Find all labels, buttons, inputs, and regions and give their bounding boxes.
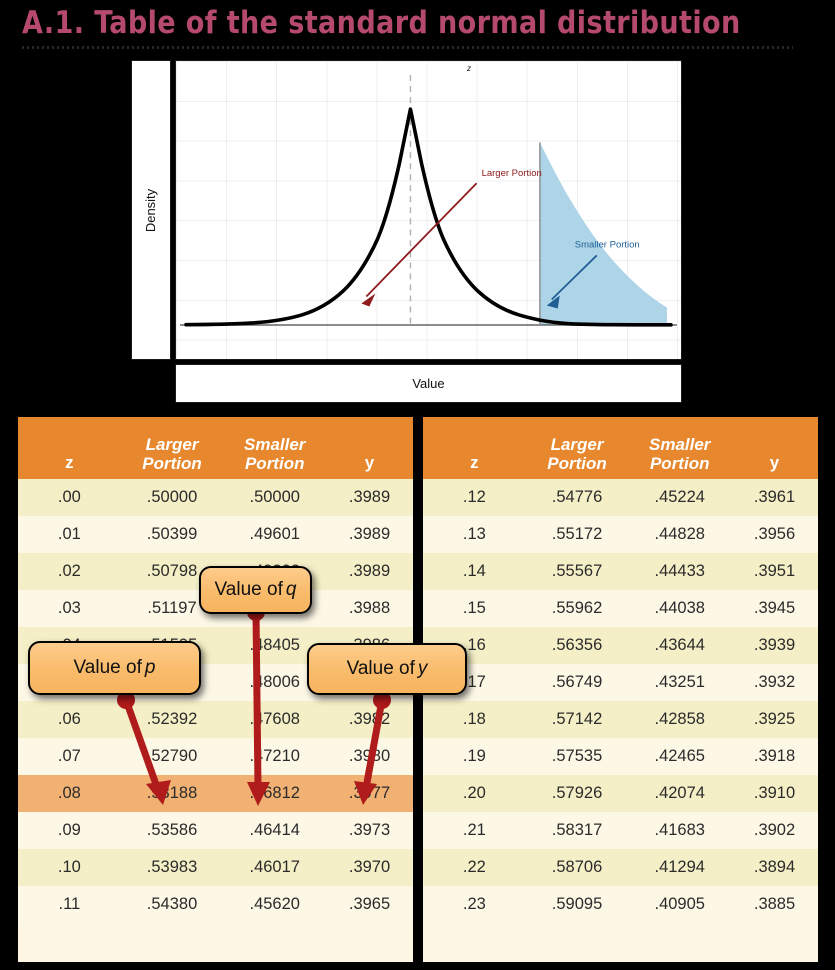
cell-q: .44433 <box>628 553 731 590</box>
cell-q: .42074 <box>628 775 731 812</box>
cell-y: .3980 <box>326 738 413 775</box>
cell-y: .3989 <box>326 479 413 516</box>
table-row: .01.50399.49601.3989 <box>18 516 413 553</box>
table-row: .00.50000.50000.3989 <box>18 479 413 516</box>
callout-q-label: Value of <box>215 579 283 601</box>
cell-y: .3885 <box>731 886 818 923</box>
table-row: .15.55962.44038.3945 <box>423 590 818 627</box>
cell-z: .20 <box>423 775 526 812</box>
smaller-portion-label: Smaller Portion <box>575 239 640 250</box>
cell-y: .3970 <box>326 849 413 886</box>
cell-z: .01 <box>18 516 121 553</box>
cell-q: .41683 <box>628 812 731 849</box>
plot-svg: Larger Portion Smaller Portion <box>176 61 681 359</box>
cell-z: .03 <box>18 590 121 627</box>
table-row: .06.52392.47608.3982 <box>18 701 413 738</box>
cell-z: .12 <box>423 479 526 516</box>
cell-q: .45620 <box>223 886 326 923</box>
normal-distribution-chart: Density Larger Portion <box>131 60 682 403</box>
cell-q: .41294 <box>628 849 731 886</box>
cell-y: .3989 <box>326 553 413 590</box>
cell-p: .52790 <box>121 738 224 775</box>
cell-y: .3956 <box>731 516 818 553</box>
callout-y-label: Value of <box>347 658 415 680</box>
callout-value-of-y: Value of y <box>307 643 467 695</box>
left-table-header-row: z Larger Portion Smaller Portion y <box>18 417 413 479</box>
cell-q: .46017 <box>223 849 326 886</box>
cell-y: .3961 <box>731 479 818 516</box>
x-axis-panel: Value z <box>175 364 682 403</box>
cell-z: .08 <box>18 775 121 812</box>
larger-portion-arrow-line <box>366 183 476 296</box>
cell-y: .3925 <box>731 701 818 738</box>
header-y: y <box>326 417 413 479</box>
cell-z: .00 <box>18 479 121 516</box>
callout-y-symbol: y <box>415 658 428 680</box>
larger-portion-label: Larger Portion <box>482 168 542 179</box>
cell-q: .46812 <box>223 775 326 812</box>
cell-z: .23 <box>423 886 526 923</box>
page-title-block: A.1. Table of the standard normal distri… <box>22 4 812 42</box>
left-table-body: .00.50000.50000.3989.01.50399.49601.3989… <box>18 479 413 923</box>
cell-y: .3910 <box>731 775 818 812</box>
table-row: .18.57142.42858.3925 <box>423 701 818 738</box>
table-row: .09.53586.46414.3973 <box>18 812 413 849</box>
cell-y: .3918 <box>731 738 818 775</box>
callout-p-symbol: p <box>142 657 156 679</box>
cell-z: .22 <box>423 849 526 886</box>
cell-p: .58706 <box>526 849 629 886</box>
cell-q: .40905 <box>628 886 731 923</box>
y-axis-label: Density <box>144 188 159 231</box>
header-larger-portion: Larger Portion <box>526 417 629 479</box>
cell-p: .53188 <box>121 775 224 812</box>
cell-q: .43251 <box>628 664 731 701</box>
header-y: y <box>731 417 818 479</box>
cell-y: .3939 <box>731 627 818 664</box>
cell-z: .09 <box>18 812 121 849</box>
cell-z: .13 <box>423 516 526 553</box>
cell-q: .47210 <box>223 738 326 775</box>
x-axis-label: Value <box>412 376 444 391</box>
cell-z: .07 <box>18 738 121 775</box>
cell-y: .3982 <box>326 701 413 738</box>
cell-p: .52392 <box>121 701 224 738</box>
cell-p: .57926 <box>526 775 629 812</box>
cell-y: .3894 <box>731 849 818 886</box>
header-larger-portion: Larger Portion <box>121 417 224 479</box>
cell-p: .50399 <box>121 516 224 553</box>
table-row: .07.52790.47210.3980 <box>18 738 413 775</box>
cell-p: .56356 <box>526 627 629 664</box>
y-axis-panel: Density <box>131 60 171 360</box>
cell-y: .3965 <box>326 886 413 923</box>
cell-y: .3945 <box>731 590 818 627</box>
cell-q: .50000 <box>223 479 326 516</box>
header-smaller-portion: Smaller Portion <box>223 417 326 479</box>
z-tick-label: z <box>467 64 471 73</box>
cell-y: .3951 <box>731 553 818 590</box>
cell-y: .3977 <box>326 775 413 812</box>
cell-p: .56749 <box>526 664 629 701</box>
table-row: .14.55567.44433.3951 <box>423 553 818 590</box>
plot-area: Larger Portion Smaller Portion <box>175 60 682 360</box>
right-table-wrapper: z Larger Portion Smaller Portion y .12.5… <box>423 417 818 962</box>
header-z: z <box>18 417 121 479</box>
cell-p: .59095 <box>526 886 629 923</box>
table-row: .16.56356.43644.3939 <box>423 627 818 664</box>
cell-p: .53983 <box>121 849 224 886</box>
cell-p: .54776 <box>526 479 629 516</box>
cell-y: .3973 <box>326 812 413 849</box>
cell-q: .42858 <box>628 701 731 738</box>
right-table-body: .12.54776.45224.3961.13.55172.44828.3956… <box>423 479 818 923</box>
cell-q: .49601 <box>223 516 326 553</box>
cell-p: .58317 <box>526 812 629 849</box>
cell-p: .55962 <box>526 590 629 627</box>
page-title: A.1. Table of the standard normal distri… <box>22 4 788 42</box>
cell-y: .3902 <box>731 812 818 849</box>
cell-p: .55567 <box>526 553 629 590</box>
table-row: .19.57535.42465.3918 <box>423 738 818 775</box>
cell-y: .3932 <box>731 664 818 701</box>
table-row: .08.53188.46812.3977 <box>18 775 413 812</box>
cell-q: .44038 <box>628 590 731 627</box>
table-row: .22.58706.41294.3894 <box>423 849 818 886</box>
cell-z: .10 <box>18 849 121 886</box>
table-row: .10.53983.46017.3970 <box>18 849 413 886</box>
cell-z: .02 <box>18 553 121 590</box>
right-z-table: z Larger Portion Smaller Portion y .12.5… <box>423 417 818 923</box>
title-underline <box>22 46 793 49</box>
callout-value-of-p: Value of p <box>28 641 201 695</box>
cell-q: .47608 <box>223 701 326 738</box>
cell-q: .42465 <box>628 738 731 775</box>
cell-p: .53586 <box>121 812 224 849</box>
cell-z: .11 <box>18 886 121 923</box>
callout-value-of-q: Value of q <box>199 566 312 614</box>
cell-z: .21 <box>423 812 526 849</box>
header-smaller-portion: Smaller Portion <box>628 417 731 479</box>
cell-q: .45224 <box>628 479 731 516</box>
callout-p-label: Value of <box>74 657 142 679</box>
cell-y: .3989 <box>326 516 413 553</box>
cell-z: .06 <box>18 701 121 738</box>
cell-p: .57142 <box>526 701 629 738</box>
cell-p: .55172 <box>526 516 629 553</box>
cell-q: .44828 <box>628 516 731 553</box>
table-row: .17.56749.43251.3932 <box>423 664 818 701</box>
table-row: .21.58317.41683.3902 <box>423 812 818 849</box>
cell-z: .18 <box>423 701 526 738</box>
cell-z: .19 <box>423 738 526 775</box>
header-z: z <box>423 417 526 479</box>
table-row: .23.59095.40905.3885 <box>423 886 818 923</box>
right-table-header-row: z Larger Portion Smaller Portion y <box>423 417 818 479</box>
table-row: .13.55172.44828.3956 <box>423 516 818 553</box>
cell-z: .14 <box>423 553 526 590</box>
cell-p: .50000 <box>121 479 224 516</box>
table-row: .12.54776.45224.3961 <box>423 479 818 516</box>
cell-y: .3988 <box>326 590 413 627</box>
slide-root: A.1. Table of the standard normal distri… <box>0 0 835 970</box>
cell-z: .15 <box>423 590 526 627</box>
cell-q: .46414 <box>223 812 326 849</box>
cell-p: .54380 <box>121 886 224 923</box>
cell-p: .57535 <box>526 738 629 775</box>
table-row: .20.57926.42074.3910 <box>423 775 818 812</box>
callout-q-symbol: q <box>283 579 297 601</box>
cell-q: .43644 <box>628 627 731 664</box>
table-row: .11.54380.45620.3965 <box>18 886 413 923</box>
